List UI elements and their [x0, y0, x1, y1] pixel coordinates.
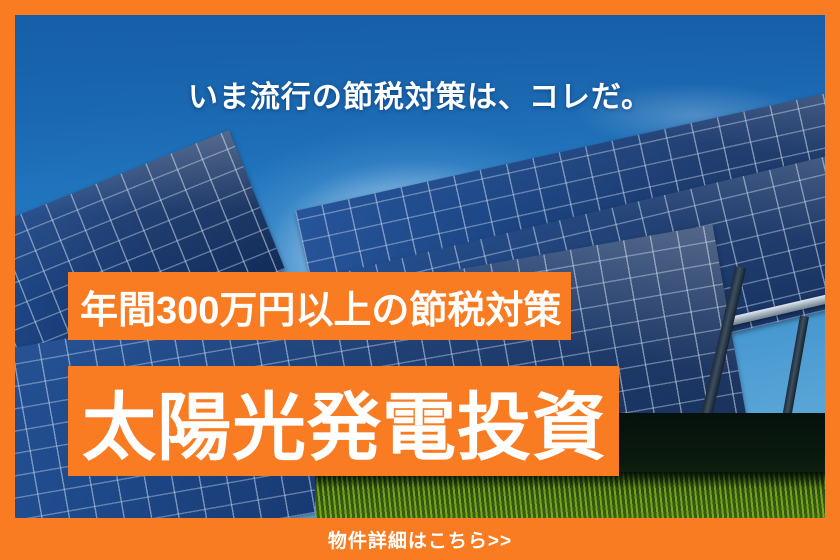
main-headline-band: 太陽光発電投資: [68, 366, 619, 476]
cta-label[interactable]: 物件詳細はこちら>>: [328, 526, 512, 553]
main-headline-text: 太陽光発電投資: [82, 368, 607, 475]
cta-bar[interactable]: 物件詳細はこちら>>: [0, 518, 840, 560]
solar-investment-banner: いま流行の節税対策は、コレだ。 年間300万円以上の節税対策 太陽光発電投資 物…: [0, 0, 840, 560]
grass-strip: [315, 472, 825, 518]
page-title: いま流行の節税対策は、コレだ。: [0, 72, 840, 116]
subheadline-band: 年間300万円以上の節税対策: [68, 272, 571, 340]
subheadline-text: 年間300万円以上の節税対策: [80, 279, 561, 334]
